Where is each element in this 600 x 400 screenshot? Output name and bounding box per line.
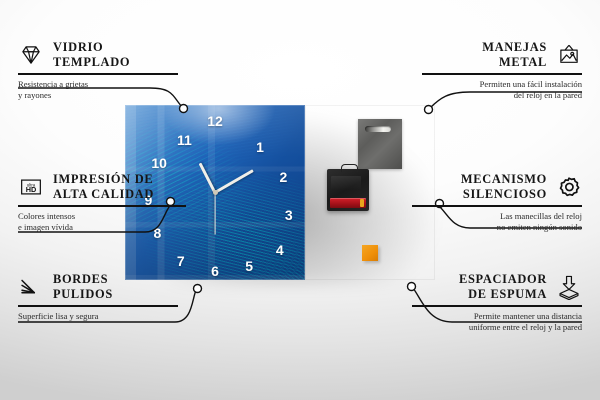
foam-spacer-icon bbox=[556, 274, 582, 300]
callout-header: ESPACIADOR DE ESPUMA bbox=[412, 272, 582, 302]
svg-text:HD: HD bbox=[26, 185, 37, 194]
callout-vidrio-templado: VIDRIO TEMPLADO Resistencia a grietas y … bbox=[18, 40, 178, 102]
callout-description: Colores intensos e imagen vívida bbox=[18, 211, 186, 234]
clock-numeral-12: 12 bbox=[207, 114, 223, 128]
callout-title: MECANISMO SILENCIOSO bbox=[461, 172, 547, 202]
clock-numeral-10: 10 bbox=[151, 156, 167, 170]
callout-header: ultra HD IMPRESIÓN DE ALTA CALIDAD bbox=[18, 172, 186, 202]
callout-manejas-metal: MANEJAS METAL Permiten una fácil instala… bbox=[422, 40, 582, 102]
callout-header: MANEJAS METAL bbox=[422, 40, 582, 70]
callout-mecanismo-silencioso: MECANISMO SILENCIOSO Las manecillas del … bbox=[412, 172, 582, 234]
callout-espaciador-espuma: ESPACIADOR DE ESPUMA Permite mantener un… bbox=[412, 272, 582, 334]
battery bbox=[330, 198, 366, 208]
callout-description: Superficie lisa y segura bbox=[18, 311, 178, 323]
callout-divider bbox=[412, 205, 582, 206]
callout-header: BORDES PULIDOS bbox=[18, 272, 178, 302]
gear-icon bbox=[556, 174, 582, 200]
callout-description: Permiten una fácil instalación del reloj… bbox=[422, 79, 582, 102]
polished-edges-icon bbox=[18, 274, 44, 300]
mechanism-housing-detail bbox=[331, 176, 361, 190]
callout-divider bbox=[422, 73, 582, 74]
callout-header: VIDRIO TEMPLADO bbox=[18, 40, 178, 70]
clock-numeral-7: 7 bbox=[177, 254, 185, 268]
clock-mechanism bbox=[327, 169, 369, 211]
clock-second-hand bbox=[214, 193, 215, 235]
callout-impresion-alta-calidad: ultra HD IMPRESIÓN DE ALTA CALIDAD Color… bbox=[18, 172, 186, 234]
callout-divider bbox=[18, 305, 178, 306]
clock-numeral-6: 6 bbox=[211, 264, 219, 278]
foam-spacer bbox=[362, 245, 378, 261]
callout-description: Resistencia a grietas y rayones bbox=[18, 79, 178, 102]
mechanism-hook bbox=[341, 164, 358, 172]
diamond-icon bbox=[18, 42, 44, 68]
clock-numeral-5: 5 bbox=[245, 259, 253, 273]
callout-bordes-pulidos: BORDES PULIDOS Superficie lisa y segura bbox=[18, 272, 178, 322]
picture-frame-icon bbox=[556, 42, 582, 68]
callout-divider bbox=[18, 205, 186, 206]
callout-title: IMPRESIÓN DE ALTA CALIDAD bbox=[53, 172, 154, 202]
callout-title: ESPACIADOR DE ESPUMA bbox=[459, 272, 547, 302]
clock-center-pin bbox=[213, 190, 218, 195]
callout-title: MANEJAS METAL bbox=[482, 40, 547, 70]
clock-numeral-11: 11 bbox=[177, 133, 192, 147]
callout-title: VIDRIO TEMPLADO bbox=[53, 40, 130, 70]
clock-numeral-1: 1 bbox=[256, 140, 264, 154]
callout-description: Permite mantener una distancia uniforme … bbox=[412, 311, 582, 334]
metal-hanger-plate bbox=[358, 119, 402, 169]
infographic-stage: 12 1 2 3 4 5 6 7 8 9 10 11 bbox=[0, 0, 600, 400]
callout-divider bbox=[412, 305, 582, 306]
callout-title: BORDES PULIDOS bbox=[53, 272, 113, 302]
callout-description: Las manecillas del reloj no emiten ningú… bbox=[412, 211, 582, 234]
callout-header: MECANISMO SILENCIOSO bbox=[412, 172, 582, 202]
clock-numeral-3: 3 bbox=[285, 208, 293, 222]
clock-numeral-4: 4 bbox=[276, 243, 284, 257]
clock-numeral-2: 2 bbox=[279, 170, 287, 184]
callout-divider bbox=[18, 73, 178, 74]
ultra-hd-icon: ultra HD bbox=[18, 174, 44, 200]
